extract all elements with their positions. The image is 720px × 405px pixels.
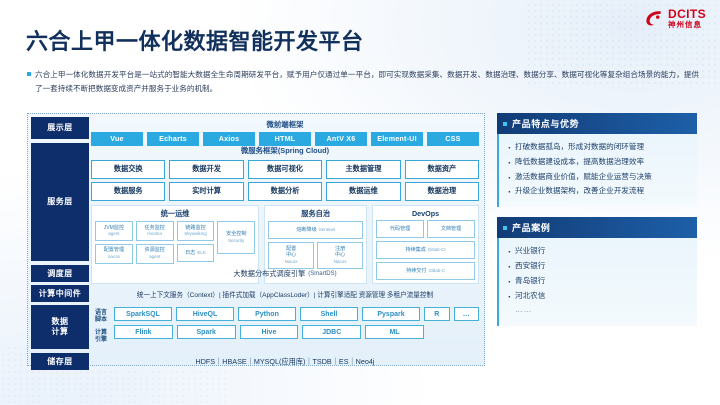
script-chip[interactable]: Python bbox=[238, 307, 296, 321]
card-title-cases: 产品案例 bbox=[512, 221, 550, 234]
layer-label-compute-line1: 数据 bbox=[52, 317, 69, 327]
case-item: 河北农信 bbox=[507, 289, 691, 304]
compute-side-labels: 语言 脚本 计算 引擎 bbox=[91, 307, 111, 347]
devops-cell-doc[interactable]: 文档管理 bbox=[427, 220, 475, 238]
ops-cell-en: nacos bbox=[97, 254, 131, 260]
slide-root: DCITS 神州信息 六合上甲一体化数据智能开发平台 六合上甲一体化数据开发平台… bbox=[0, 0, 720, 405]
card-cases: 产品案例 兴业银行 西安银行 青岛银行 河北农信 …… bbox=[497, 217, 697, 326]
service-module[interactable]: 数据服务 bbox=[91, 182, 165, 201]
script-chip[interactable]: R bbox=[424, 307, 450, 321]
service-module[interactable]: 主数据管理 bbox=[326, 160, 400, 179]
schedule-engine-row: 大数据分布式调度引擎 (SmartDS) bbox=[89, 265, 481, 282]
service-module[interactable]: 数据资产 bbox=[405, 160, 479, 179]
bullet-square-icon bbox=[27, 72, 31, 76]
panel-title-devops: DevOps bbox=[376, 208, 475, 221]
engine-chip[interactable]: Spark bbox=[177, 325, 236, 339]
ops-cell[interactable]: 配置管理 nacos bbox=[95, 244, 133, 264]
card-title-advantages: 产品特点与优势 bbox=[512, 117, 579, 130]
schedule-engine-en: (SmartDS) bbox=[308, 271, 336, 277]
card-body-cases: 兴业银行 西安银行 青岛银行 河北农信 …… bbox=[497, 238, 697, 326]
autonomy-cell-en: Sentinel bbox=[319, 227, 335, 233]
card-body-advantages: 打破数据孤岛，形成对数据的闭环管理 降低数据建设成本，提高数据治理效率 激活数据… bbox=[497, 134, 697, 207]
case-item: 西安银行 bbox=[507, 259, 691, 274]
bullet-square-icon bbox=[503, 226, 507, 230]
layer-middleware: 计算中间件 统一上下文服务（Context）| 插件式加载（AppClassLo… bbox=[31, 285, 481, 302]
script-label-line1: 语言 bbox=[91, 310, 111, 317]
ops-cell-en: Skywalking bbox=[179, 231, 213, 237]
page-title: 六合上甲一体化数据智能开发平台 bbox=[26, 24, 364, 56]
panel-title-service-autonomy: 服务自治 bbox=[268, 208, 363, 222]
autonomy-cell-cn: 熔断降级 bbox=[296, 227, 316, 234]
devops-cell-ci[interactable]: 持续集成 Gitlab-CI bbox=[376, 241, 475, 259]
layer-label-service: 服务层 bbox=[31, 143, 89, 261]
layer-compute: 数据 计算 语言 脚本 计算 引擎 SparkSQ bbox=[31, 305, 481, 349]
brand-name-en: DCITS bbox=[668, 8, 706, 20]
script-chip[interactable]: Pyspark bbox=[362, 307, 420, 321]
ops-cell-en: monitor bbox=[138, 231, 172, 237]
architecture-diagram: 展示层 微前端框架 Vue Echarts Axios HTML AntV X6… bbox=[27, 113, 485, 366]
devops-cell-cn: 持续集成 bbox=[405, 247, 425, 254]
ops-cell-security[interactable]: 安全控制 Security bbox=[217, 221, 255, 254]
layer-label-storage: 储存层 bbox=[31, 353, 89, 370]
ops-cell[interactable]: 日志 ELK bbox=[177, 244, 215, 262]
advantage-item: 激活数据商业价值，赋能企业运营与决策 bbox=[507, 170, 691, 185]
engine-chip[interactable]: JDBC bbox=[302, 325, 361, 339]
compute-script-row: SparkSQL HiveQL Python Shell Pyspark R … bbox=[114, 307, 479, 321]
service-module[interactable]: 实时计算 bbox=[169, 182, 243, 201]
panel-title-unified-ops: 统一运维 bbox=[95, 208, 255, 222]
advantage-item: 打破数据孤岛，形成对数据的闭环管理 bbox=[507, 140, 691, 155]
card-header-cases: 产品案例 bbox=[497, 217, 697, 238]
ops-cell-cn: 任务监控 bbox=[138, 225, 172, 232]
engine-chip[interactable]: ML bbox=[365, 325, 424, 339]
ops-column-3: 链路监控 Skywalking 日志 ELK bbox=[177, 221, 215, 264]
microservice-framework-label: 微服务框架(Spring Cloud) bbox=[89, 143, 481, 158]
page-summary-text: 六合上甲一体化数据开发平台是一站式的智能大数据全生命周期研发平台，赋予用户仅通过… bbox=[35, 68, 699, 96]
ops-column-4: 安全控制 Security bbox=[217, 221, 255, 264]
middleware-capabilities: 统一上下文服务（Context）| 插件式加载（AppClassLoder）| … bbox=[89, 285, 481, 302]
service-module[interactable]: 数据分析 bbox=[248, 182, 322, 201]
ops-cell-cn: 配置管理 bbox=[97, 247, 131, 254]
devops-cell-code[interactable]: 代码管理 bbox=[376, 220, 424, 238]
micro-frontend-label: 微前端框架 bbox=[89, 117, 481, 132]
schedule-engine-cn: 大数据分布式调度引擎 bbox=[233, 269, 305, 279]
layer-storage: 储存层 HDFS｜HBASE｜MYSQL(应用库)｜TSDB｜ES｜Neo4j bbox=[31, 353, 481, 370]
layer-label-compute-line2: 计算 bbox=[52, 327, 69, 337]
script-chip[interactable]: Shell bbox=[300, 307, 358, 321]
ops-cell-en: ELK bbox=[197, 250, 206, 256]
layer-label-middleware: 计算中间件 bbox=[31, 285, 89, 302]
ops-cell[interactable]: 资源监控 agent bbox=[136, 244, 174, 264]
ops-cell-cn: JVM监控 bbox=[97, 225, 131, 232]
layer-label-compute: 数据 计算 bbox=[31, 305, 89, 349]
ops-cell-cn: 资源监控 bbox=[138, 247, 172, 254]
page-summary: 六合上甲一体化数据开发平台是一站式的智能大数据全生命周期研发平台，赋予用户仅通过… bbox=[27, 68, 699, 96]
service-module[interactable]: 数据交换 bbox=[91, 160, 165, 179]
ops-cell-en: agent bbox=[97, 231, 131, 237]
engine-chip[interactable]: Flink bbox=[114, 325, 173, 339]
service-module-row-2: 数据服务 实时计算 数据分析 数据运维 数据治理 bbox=[91, 182, 479, 201]
sidebar: 产品特点与优势 打破数据孤岛，形成对数据的闭环管理 降低数据建设成本，提高数据治… bbox=[497, 113, 697, 336]
engine-label-line1: 计算 bbox=[91, 330, 111, 337]
engine-chip[interactable]: Hive bbox=[240, 325, 299, 339]
case-item: 青岛银行 bbox=[507, 274, 691, 289]
dcits-swirl-icon bbox=[644, 8, 664, 28]
case-item-more: …… bbox=[507, 303, 691, 318]
card-header-advantages: 产品特点与优势 bbox=[497, 113, 697, 134]
devops-cell-en: Gitlab-CI bbox=[428, 247, 446, 253]
service-module-grid: 数据交换 数据开发 数据可视化 主数据管理 数据资产 数据服务 实时计算 数据分… bbox=[89, 158, 481, 201]
ops-cell-cn: 链路监控 bbox=[179, 225, 213, 232]
script-chip-more[interactable]: … bbox=[454, 307, 480, 321]
autonomy-cell-circuit-breaker[interactable]: 熔断降级 Sentinel bbox=[268, 221, 363, 239]
ops-cell[interactable]: JVM监控 agent bbox=[95, 221, 133, 241]
service-module[interactable]: 数据运维 bbox=[326, 182, 400, 201]
ops-cell-en: Security bbox=[219, 238, 253, 244]
ops-cell-cn: 安全控制 bbox=[219, 231, 253, 238]
script-label-line2: 脚本 bbox=[91, 317, 111, 324]
case-item: 兴业银行 bbox=[507, 244, 691, 259]
ops-cell[interactable]: 任务监控 monitor bbox=[136, 221, 174, 241]
middleware-text: 统一上下文服务（Context）| 插件式加载（AppClassLoder）| … bbox=[137, 289, 433, 299]
ops-column-2: 任务监控 monitor 资源监控 agent bbox=[136, 221, 174, 264]
ops-column-1: JVM监控 agent 配置管理 nacos bbox=[95, 221, 133, 264]
autonomy-cell-cn-2: 中心 bbox=[270, 252, 312, 259]
script-chip[interactable]: HiveQL bbox=[176, 307, 234, 321]
storage-technologies: HDFS｜HBASE｜MYSQL(应用库)｜TSDB｜ES｜Neo4j bbox=[89, 353, 481, 370]
ops-cell-cn: 日志 bbox=[185, 250, 195, 257]
card-advantages: 产品特点与优势 打破数据孤岛，形成对数据的闭环管理 降低数据建设成本，提高数据治… bbox=[497, 113, 697, 207]
ops-cell-en: agent bbox=[138, 254, 172, 260]
bullet-square-icon bbox=[503, 122, 507, 126]
layer-presentation: 展示层 微前端框架 Vue Echarts Axios HTML AntV X6… bbox=[31, 117, 481, 139]
engine-label-line2: 引擎 bbox=[91, 337, 111, 344]
service-module[interactable]: 数据开发 bbox=[169, 160, 243, 179]
brand-name-cn: 神州信息 bbox=[668, 21, 706, 29]
autonomy-cell-cn-2: 中心 bbox=[319, 252, 361, 259]
layer-label-schedule: 调度层 bbox=[31, 265, 89, 282]
script-chip[interactable]: SparkSQL bbox=[114, 307, 172, 321]
advantage-item: 降低数据建设成本，提高数据治理效率 bbox=[507, 155, 691, 170]
service-module-row-1: 数据交换 数据开发 数据可视化 主数据管理 数据资产 bbox=[91, 160, 479, 179]
advantage-item: 升级企业数据架构，改善企业开发流程 bbox=[507, 184, 691, 199]
service-module[interactable]: 数据治理 bbox=[405, 182, 479, 201]
service-module[interactable]: 数据可视化 bbox=[248, 160, 322, 179]
layer-label-presentation: 展示层 bbox=[31, 117, 89, 139]
layer-schedule: 调度层 大数据分布式调度引擎 (SmartDS) bbox=[31, 265, 481, 282]
brand-logo: DCITS 神州信息 bbox=[644, 8, 706, 29]
compute-engine-row: Flink Spark Hive JDBC ML bbox=[114, 325, 479, 339]
layer-service: 服务层 微服务框架(Spring Cloud) 数据交换 数据开发 数据可视化 … bbox=[31, 143, 481, 261]
ops-cell[interactable]: 链路监控 Skywalking bbox=[177, 221, 215, 241]
